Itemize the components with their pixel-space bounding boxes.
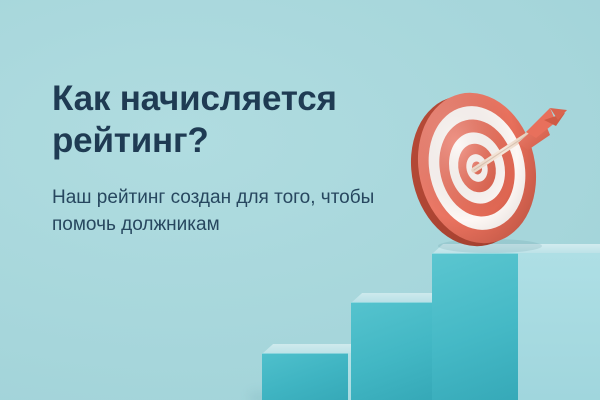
- target-ring-1: [471, 161, 484, 176]
- page-title: Как начисляется рейтинг?: [52, 78, 402, 163]
- bar-block-2-front-face: [351, 302, 437, 400]
- target-ring-3: [430, 112, 524, 224]
- bar-block-3-front-face: [432, 253, 518, 400]
- page-subtitle: Наш рейтинг создан для того, чтобы помоч…: [52, 185, 382, 239]
- bar-block-3-side-face: [518, 253, 600, 400]
- block-2-shadow: [340, 392, 505, 400]
- bar-block-1-front-face: [262, 353, 348, 400]
- target-ring-4-outer: [404, 86, 551, 255]
- arrow-shaft: [474, 132, 532, 170]
- arrow-dart-icon: [474, 108, 567, 170]
- arrow-fletching-tip: [544, 113, 565, 126]
- rating-banner: Как начисляется рейтинг? Наш рейтинг соз…: [0, 0, 600, 400]
- target-board-edge: [404, 86, 544, 258]
- bar-block-2: [351, 302, 437, 400]
- text-block: Как начисляется рейтинг? Наш рейтинг соз…: [52, 78, 402, 239]
- bar-block-3: [432, 253, 518, 400]
- bar-block-1-top-face: [262, 344, 413, 354]
- block-1-shadow: [250, 392, 415, 400]
- target-board-face: [404, 86, 551, 255]
- arrow-fletching-upper: [526, 108, 556, 138]
- bar-block-1: [262, 353, 348, 400]
- target-gap-4: [417, 96, 538, 239]
- arrow-nock: [550, 108, 567, 120]
- dartboard-target-illustration: [404, 86, 600, 258]
- target-gap-3: [442, 127, 512, 210]
- target-bullseye: [474, 165, 480, 171]
- bar-block-2-side-face: [437, 302, 491, 400]
- arrow-fletching-lower: [518, 120, 550, 150]
- target-ring-2: [453, 140, 500, 196]
- bar-block-1-side-face: [348, 353, 402, 400]
- target-board-shading: [404, 86, 551, 255]
- target-gap-2: [464, 152, 491, 184]
- bar-block-3-top-face: [432, 244, 600, 254]
- bar-block-2-top-face: [351, 293, 502, 303]
- target-drop-shadow: [438, 239, 542, 253]
- arrow-shaft-shadow: [474, 132, 532, 170]
